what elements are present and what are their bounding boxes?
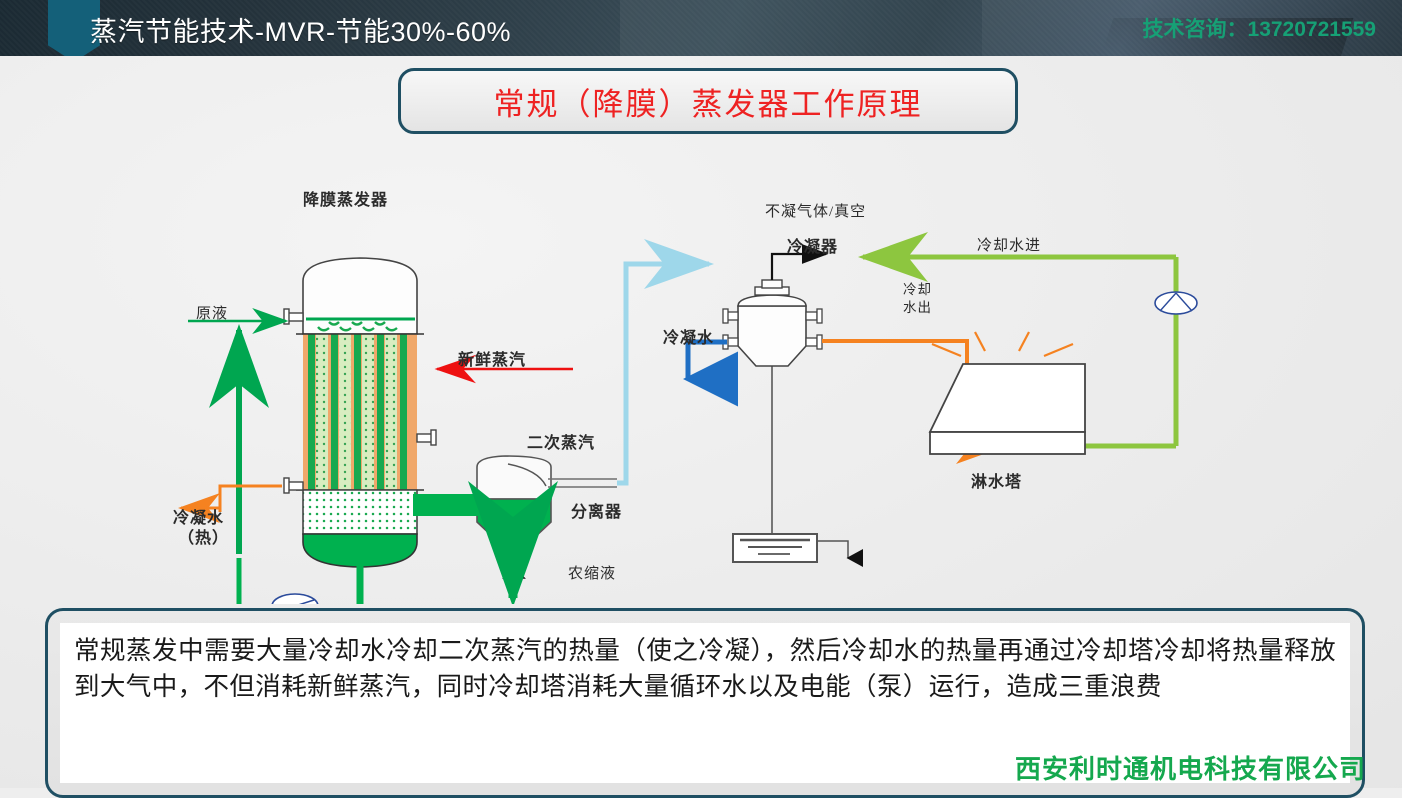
label-noncondensable-gas: 不凝气体/真空 <box>765 200 866 221</box>
feed-pump <box>272 594 318 604</box>
label-cooling-water-in: 冷却水进 <box>977 234 1041 255</box>
label-cooling-water-out-line2: 水出 <box>903 296 932 316</box>
evaporator-separator-duct <box>413 494 479 516</box>
evaporator-vapor-zone <box>303 490 417 534</box>
label-condensate: 冷凝水 <box>663 324 714 348</box>
label-cooling-water-out-line1: 冷却 <box>903 278 932 298</box>
label-hot-condensate-line2: （热） <box>178 524 229 548</box>
hot-condensate-line <box>220 486 282 512</box>
cooling-tower-basin <box>930 432 1085 454</box>
tube-bundle-tubes <box>308 334 407 490</box>
footer-company-name: 西安利时通机电科技有限公司 <box>1015 749 1366 786</box>
cooling-water-pump <box>1155 292 1197 314</box>
header-title: 蒸汽节能技术-MVR-节能30%-60% <box>90 10 511 49</box>
label-cooling-tower: 淋水塔 <box>971 468 1022 492</box>
cooling-tower-shell <box>930 364 1085 432</box>
condenser-body <box>738 306 806 366</box>
header-facet-mid <box>620 0 880 56</box>
evaporator-sump-liquid <box>303 534 417 567</box>
process-flow-diagram: 降膜蒸发器 原液 新鲜蒸汽 冷凝水 （热） 二次蒸汽 分离器 农缩液 不凝气体/… <box>0 134 1402 604</box>
label-concentrate: 农缩液 <box>568 562 616 583</box>
label-condenser: 冷凝器 <box>787 233 838 257</box>
separator-liquid <box>477 499 551 538</box>
pump-suction-line <box>239 558 272 604</box>
header-contact-phone: 技术咨询：13720721559 <box>1143 13 1376 43</box>
label-separator: 分离器 <box>571 498 622 522</box>
label-feed: 原液 <box>196 302 228 323</box>
noncondensable-vacuum-line <box>772 254 826 280</box>
concentrate-valve <box>504 558 524 578</box>
condenser-vent-nozzle <box>762 280 782 288</box>
concentrate-stub <box>508 538 519 558</box>
label-secondary-steam: 二次蒸汽 <box>527 429 595 453</box>
cooling-tower-vapor-rays <box>932 332 1073 356</box>
page-title: 常规（降膜）蒸发器工作原理 <box>494 79 923 124</box>
secondary-steam-line <box>617 264 709 483</box>
hotwell-outlet-line <box>817 541 848 558</box>
explanation-text: 常规蒸发中需要大量冷却水冷却二次蒸汽的热量（使之冷凝），然后冷却水的热量再通过冷… <box>74 633 1336 705</box>
slide-title-card: 常规（降膜）蒸发器工作原理 <box>398 68 1018 134</box>
slide-body: 常规（降膜）蒸发器工作原理 <box>0 56 1402 788</box>
label-fresh-steam: 新鲜蒸汽 <box>458 346 526 370</box>
condenser-top-dome <box>738 295 806 306</box>
label-evaporator: 降膜蒸发器 <box>303 186 388 210</box>
app-header: 蒸汽节能技术-MVR-节能30%-60% 技术咨询：13720721559 <box>0 0 1402 56</box>
